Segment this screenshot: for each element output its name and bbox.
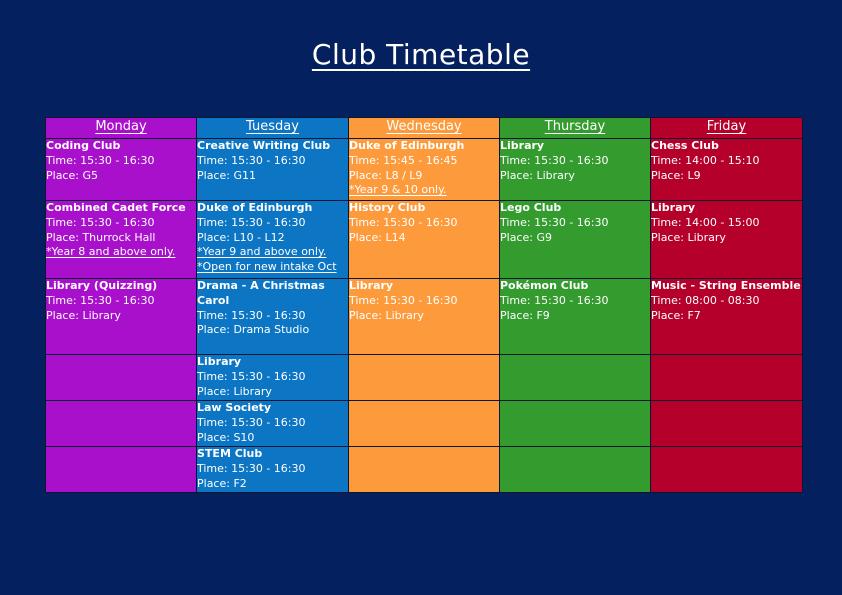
- cell-monday-5[interactable]: [46, 401, 197, 447]
- cell-friday-6[interactable]: [651, 447, 803, 493]
- table-row: Combined Cadet Force Time: 15:30 - 16:30…: [46, 201, 803, 279]
- timetable-grid: Monday Tuesday Wednesday Thursday Friday…: [45, 117, 802, 493]
- column-header-wednesday: Wednesday: [349, 118, 500, 139]
- timetable-page: Club Timetable Monday Tuesday Wednesday …: [0, 0, 842, 595]
- club-place: Place: Drama Studio: [197, 323, 348, 338]
- club-name: Library: [349, 279, 499, 294]
- cell-thursday-4[interactable]: [500, 355, 651, 401]
- column-header-friday: Friday: [651, 118, 803, 139]
- club-name: STEM Club: [197, 447, 348, 462]
- cell-tuesday-3[interactable]: Drama - A Christmas Carol Time: 15:30 - …: [197, 279, 349, 355]
- cell-monday-6[interactable]: [46, 447, 197, 493]
- cell-wednesday-2[interactable]: History Club Time: 15:30 - 16:30 Place: …: [349, 201, 500, 279]
- club-place: Place: Library: [349, 309, 499, 324]
- cell-monday-1[interactable]: Coding Club Time: 15:30 - 16:30 Place: G…: [46, 139, 197, 201]
- club-name: Law Society: [197, 401, 348, 416]
- club-time: Time: 15:30 - 16:30: [500, 216, 650, 231]
- club-time: Time: 15:30 - 16:30: [349, 216, 499, 231]
- table-row: Law Society Time: 15:30 - 16:30 Place: S…: [46, 401, 803, 447]
- cell-tuesday-2[interactable]: Duke of Edinburgh Time: 15:30 - 16:30 Pl…: [197, 201, 349, 279]
- club-place: Place: G11: [197, 169, 348, 184]
- club-place: Place: G5: [46, 169, 196, 184]
- club-place: Place: L14: [349, 231, 499, 246]
- club-time: Time: 14:00 - 15:10: [651, 154, 802, 169]
- club-name: Library (Quizzing): [46, 279, 196, 294]
- page-title: Club Timetable: [0, 38, 842, 71]
- cell-thursday-6[interactable]: [500, 447, 651, 493]
- club-name: Lego Club: [500, 201, 650, 216]
- club-note-secondary: *Open for new intake Oct: [197, 260, 348, 275]
- cell-thursday-3[interactable]: Pokémon Club Time: 15:30 - 16:30 Place: …: [500, 279, 651, 355]
- club-time: Time: 15:30 - 16:30: [197, 154, 348, 169]
- club-time: Time: 15:45 - 16:45: [349, 154, 499, 169]
- club-note: *Year 9 & 10 only.: [349, 183, 499, 198]
- club-name: History Club: [349, 201, 499, 216]
- club-name: Pokémon Club: [500, 279, 650, 294]
- club-place: Place: L9: [651, 169, 802, 184]
- club-name: Library: [197, 355, 348, 370]
- club-place: Place: F2: [197, 477, 348, 492]
- column-header-tuesday: Tuesday: [197, 118, 349, 139]
- club-name: Library: [500, 139, 650, 154]
- club-place: Place: F7: [651, 309, 802, 324]
- cell-monday-2[interactable]: Combined Cadet Force Time: 15:30 - 16:30…: [46, 201, 197, 279]
- club-time: Time: 15:30 - 16:30: [46, 216, 196, 231]
- club-place: Place: G9: [500, 231, 650, 246]
- club-time: Time: 15:30 - 16:30: [500, 154, 650, 169]
- cell-thursday-5[interactable]: [500, 401, 651, 447]
- cell-tuesday-6[interactable]: STEM Club Time: 15:30 - 16:30 Place: F2: [197, 447, 349, 493]
- cell-friday-2[interactable]: Library Time: 14:00 - 15:00 Place: Libra…: [651, 201, 803, 279]
- club-time: Time: 14:00 - 15:00: [651, 216, 802, 231]
- cell-friday-4[interactable]: [651, 355, 803, 401]
- cell-wednesday-6[interactable]: [349, 447, 500, 493]
- club-name: Music - String Ensemble: [651, 279, 802, 294]
- club-time: Time: 08:00 - 08:30: [651, 294, 802, 309]
- club-time: Time: 15:30 - 16:30: [500, 294, 650, 309]
- cell-friday-5[interactable]: [651, 401, 803, 447]
- club-name: Creative Writing Club: [197, 139, 348, 154]
- club-time: Time: 15:30 - 16:30: [197, 416, 348, 431]
- cell-tuesday-5[interactable]: Law Society Time: 15:30 - 16:30 Place: S…: [197, 401, 349, 447]
- cell-tuesday-4[interactable]: Library Time: 15:30 - 16:30 Place: Libra…: [197, 355, 349, 401]
- club-name: Library: [651, 201, 802, 216]
- table-row: Coding Club Time: 15:30 - 16:30 Place: G…: [46, 139, 803, 201]
- cell-tuesday-1[interactable]: Creative Writing Club Time: 15:30 - 16:3…: [197, 139, 349, 201]
- club-place: Place: L10 - L12: [197, 231, 348, 246]
- cell-wednesday-3[interactable]: Library Time: 15:30 - 16:30 Place: Libra…: [349, 279, 500, 355]
- club-place: Place: L8 / L9: [349, 169, 499, 184]
- table-row: STEM Club Time: 15:30 - 16:30 Place: F2: [46, 447, 803, 493]
- club-place: Place: Library: [651, 231, 802, 246]
- cell-friday-1[interactable]: Chess Club Time: 14:00 - 15:10 Place: L9: [651, 139, 803, 201]
- club-time: Time: 15:30 - 16:30: [349, 294, 499, 309]
- club-name: Chess Club: [651, 139, 802, 154]
- cell-monday-3[interactable]: Library (Quizzing) Time: 15:30 - 16:30 P…: [46, 279, 197, 355]
- club-name: Coding Club: [46, 139, 196, 154]
- club-place: Place: Thurrock Hall: [46, 231, 196, 246]
- club-place: Place: Library: [197, 385, 348, 400]
- club-name: Duke of Edinburgh: [197, 201, 348, 216]
- club-name: Duke of Edinburgh: [349, 139, 499, 154]
- table-row: Library Time: 15:30 - 16:30 Place: Libra…: [46, 355, 803, 401]
- table-header-row: Monday Tuesday Wednesday Thursday Friday: [46, 118, 803, 139]
- cell-thursday-2[interactable]: Lego Club Time: 15:30 - 16:30 Place: G9: [500, 201, 651, 279]
- club-time: Time: 15:30 - 16:30: [197, 216, 348, 231]
- club-time: Time: 15:30 - 16:30: [46, 154, 196, 169]
- column-header-thursday: Thursday: [500, 118, 651, 139]
- club-time: Time: 15:30 - 16:30: [46, 294, 196, 309]
- club-name: Drama - A Christmas Carol: [197, 279, 348, 309]
- timetable-table: Monday Tuesday Wednesday Thursday Friday…: [45, 117, 803, 493]
- cell-thursday-1[interactable]: Library Time: 15:30 - 16:30 Place: Libra…: [500, 139, 651, 201]
- club-name: Combined Cadet Force: [46, 201, 196, 216]
- cell-wednesday-1[interactable]: Duke of Edinburgh Time: 15:45 - 16:45 Pl…: [349, 139, 500, 201]
- cell-friday-3[interactable]: Music - String Ensemble Time: 08:00 - 08…: [651, 279, 803, 355]
- club-note: *Year 8 and above only.: [46, 245, 196, 260]
- club-time: Time: 15:30 - 16:30: [197, 462, 348, 477]
- club-place: Place: S10: [197, 431, 348, 446]
- club-place: Place: Library: [46, 309, 196, 324]
- club-place: Place: F9: [500, 309, 650, 324]
- club-note: *Year 9 and above only.: [197, 245, 348, 260]
- cell-wednesday-5[interactable]: [349, 401, 500, 447]
- club-place: Place: Library: [500, 169, 650, 184]
- table-row: Library (Quizzing) Time: 15:30 - 16:30 P…: [46, 279, 803, 355]
- club-time: Time: 15:30 - 16:30: [197, 309, 348, 324]
- column-header-monday: Monday: [46, 118, 197, 139]
- cell-wednesday-4[interactable]: [349, 355, 500, 401]
- cell-monday-4[interactable]: [46, 355, 197, 401]
- club-time: Time: 15:30 - 16:30: [197, 370, 348, 385]
